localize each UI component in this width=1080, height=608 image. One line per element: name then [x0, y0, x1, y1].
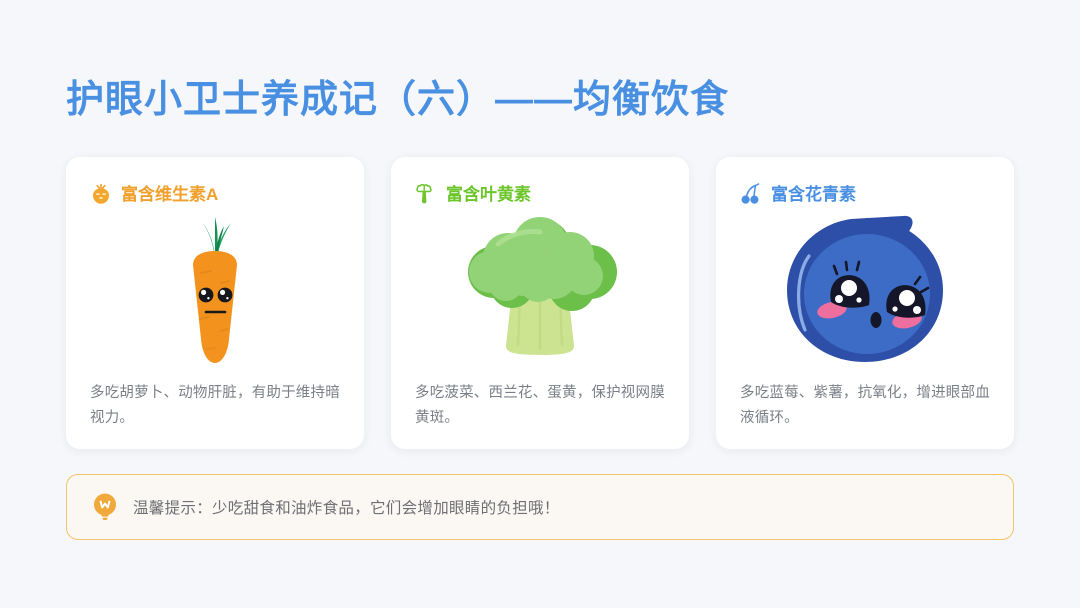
- nutrient-card-lutein[interactable]: 富含叶黄素: [391, 157, 689, 449]
- cherries-icon: [740, 182, 762, 206]
- card-header: 富含叶黄素: [391, 157, 689, 205]
- tip-banner: 温馨提示：少吃甜食和油炸食品，它们会增加眼睛的负担哦！: [66, 474, 1014, 540]
- card-header: 富含维生素A: [66, 157, 364, 205]
- tip-text: 温馨提示：少吃甜食和油炸食品，它们会增加眼睛的负担哦！: [133, 496, 560, 518]
- nutrient-card-vitamin-a[interactable]: 富含维生素A: [66, 157, 364, 449]
- nutrient-card-list: 富含维生素A: [66, 157, 1014, 449]
- card-title: 富含花青素: [771, 186, 856, 203]
- carrot-character-illustration: [66, 209, 364, 369]
- page-title: 护眼小卫士养成记（六）——均衡饮食: [66, 68, 729, 123]
- broccoli-icon: [415, 182, 437, 206]
- card-description: 多吃蓝莓、紫薯，抗氧化，增进眼部血液循环。: [740, 381, 992, 431]
- card-header: 富含花青素: [716, 157, 1014, 205]
- carrot-icon: [90, 182, 112, 206]
- lightbulb-icon: [91, 492, 119, 522]
- card-description: 多吃胡萝卜、动物肝脏，有助于维持暗视力。: [90, 381, 342, 431]
- card-description: 多吃菠菜、西兰花、蛋黄，保护视网膜黄斑。: [415, 381, 667, 431]
- card-title: 富含维生素A: [121, 186, 218, 203]
- card-title: 富含叶黄素: [446, 186, 531, 203]
- broccoli-illustration: [391, 209, 689, 369]
- blueberry-character-illustration: [716, 209, 1014, 369]
- nutrient-card-anthocyanin[interactable]: 富含花青素: [716, 157, 1014, 449]
- slide-canvas: 护眼小卫士养成记（六）——均衡饮食 富含维生素A: [0, 0, 1080, 608]
